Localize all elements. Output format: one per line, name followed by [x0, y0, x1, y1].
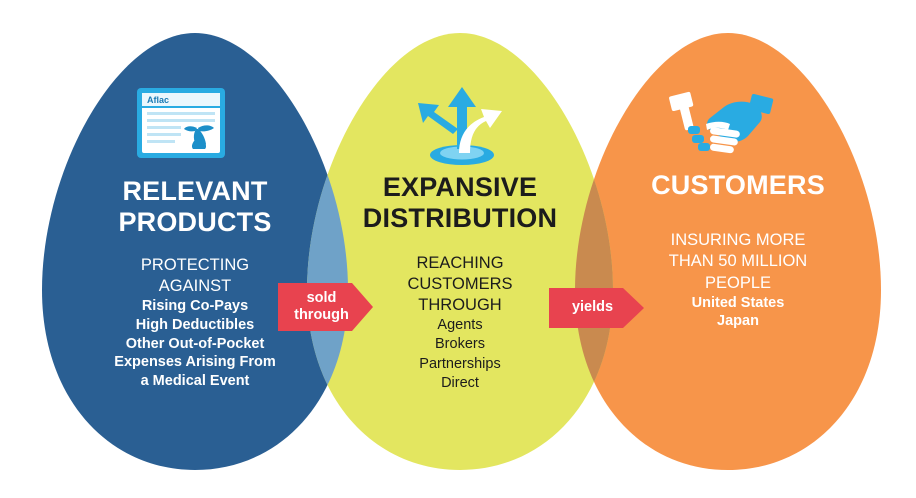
lobe-title-customers: CUSTOMERS: [614, 170, 862, 201]
svg-text:Aflac: Aflac: [147, 95, 169, 105]
lobe-customers: CUSTOMERS INSURING MORE THAN 50 MILLION …: [614, 170, 862, 331]
lobe-body-customers: INSURING MORE THAN 50 MILLION PEOPLE Uni…: [614, 230, 862, 331]
lobe-body-list-expansive-distribution: Agents Brokers Partnerships Direct: [338, 316, 582, 394]
lobe-title-relevant-products: RELEVANT PRODUCTS: [72, 176, 318, 239]
connector-label-sold-through: sold through: [294, 290, 357, 324]
policy-document-icon: Aflac: [135, 86, 227, 160]
lobe-body-caps-customers: INSURING MORE THAN 50 MILLION PEOPLE: [614, 230, 862, 293]
handshake-icon: [666, 88, 774, 160]
branching-arrows-icon: [412, 83, 512, 167]
connector-sold-through: sold through: [278, 283, 373, 331]
lobe-body-expansive-distribution: REACHING CUSTOMERS THROUGH Agents Broker…: [338, 253, 582, 394]
infographic-canvas: Aflac: [0, 0, 916, 498]
connector-yields: yields: [549, 288, 644, 328]
connector-label-yields: yields: [572, 299, 621, 316]
lobe-body-caps-expansive-distribution: REACHING CUSTOMERS THROUGH: [338, 253, 582, 316]
lobe-title-expansive-distribution: EXPANSIVE DISTRIBUTION: [338, 172, 582, 235]
lobe-expansive-distribution: EXPANSIVE DISTRIBUTION REACHING CUSTOMER…: [338, 172, 582, 394]
lobe-body-list-customers: United States Japan: [614, 294, 862, 332]
